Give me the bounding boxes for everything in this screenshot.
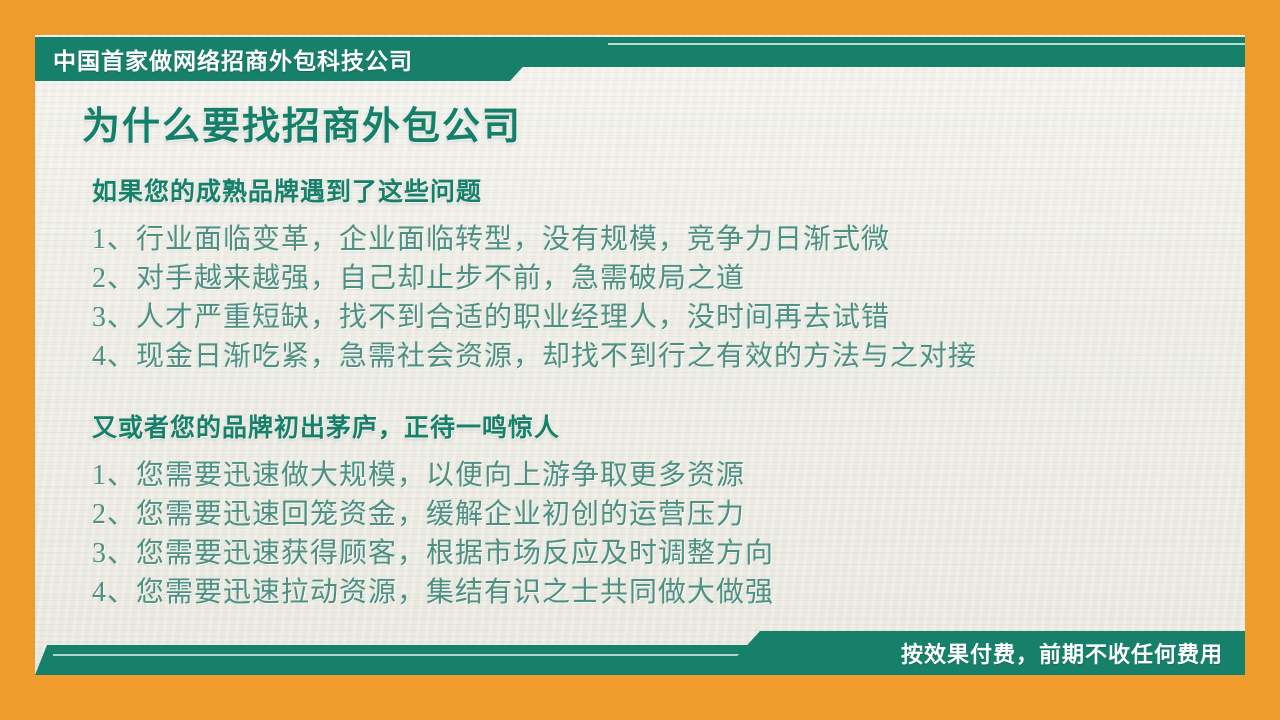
footer-banner: 按效果付费，前期不收任何费用 — [35, 631, 1245, 675]
main-content: 为什么要找招商外包公司 如果您的成熟品牌遇到了这些问题 1、行业面临变革，企业面… — [35, 95, 1245, 616]
section-heading-new-brand: 又或者您的品牌初出茅庐，正待一鸣惊人 — [92, 408, 1245, 444]
section-heading-mature-brand: 如果您的成熟品牌遇到了这些问题 — [92, 172, 1245, 208]
header-banner-text: 中国首家做网络招商外包科技公司 — [35, 42, 413, 76]
list-item: 4、您需要迅速拉动资源，集结有识之士共同做大做强 — [92, 573, 1245, 612]
section-new-brand: 又或者您的品牌初出茅庐，正待一鸣惊人 1、您需要迅速做大规模，以便向上游争取更多… — [82, 408, 1245, 612]
page-title: 为什么要找招商外包公司 — [82, 95, 1245, 150]
list-item: 1、您需要迅速做大规模，以便向上游争取更多资源 — [92, 456, 1245, 495]
list-item: 2、您需要迅速回笼资金，缓解企业初创的运营压力 — [92, 495, 1245, 534]
list-new-brand-needs: 1、您需要迅速做大规模，以便向上游争取更多资源 2、您需要迅速回笼资金，缓解企业… — [92, 456, 1245, 612]
list-item: 1、行业面临变革，企业面临转型，没有规模，竞争力日渐式微 — [92, 220, 1245, 259]
list-mature-brand-problems: 1、行业面临变革，企业面临转型，没有规模，竞争力日渐式微 2、对手越来越强，自己… — [92, 220, 1245, 376]
list-item: 2、对手越来越强，自己却止步不前，急需破局之道 — [92, 259, 1245, 298]
list-item: 3、人才严重短缺，找不到合适的职业经理人，没时间再去试错 — [92, 298, 1245, 337]
footer-banner-text: 按效果付费，前期不收任何费用 — [901, 637, 1245, 669]
header-banner: 中国首家做网络招商外包科技公司 — [35, 37, 1245, 81]
section-mature-brand: 如果您的成熟品牌遇到了这些问题 1、行业面临变革，企业面临转型，没有规模，竞争力… — [82, 172, 1245, 376]
footer-accent-line — [53, 654, 753, 656]
list-item: 3、您需要迅速获得顾客，根据市场反应及时调整方向 — [92, 534, 1245, 573]
list-item: 4、现金日渐吃紧，急需社会资源，却找不到行之有效的方法与之对接 — [92, 337, 1245, 376]
header-title-block: 中国首家做网络招商外包科技公司 — [35, 37, 550, 81]
slide-root: 中国首家做网络招商外包科技公司 为什么要找招商外包公司 如果您的成熟品牌遇到了这… — [0, 0, 1280, 720]
header-accent-line — [608, 43, 1245, 45]
footer-title-block: 按效果付费，前期不收任何费用 — [720, 631, 1245, 675]
section-spacer — [82, 380, 1245, 408]
